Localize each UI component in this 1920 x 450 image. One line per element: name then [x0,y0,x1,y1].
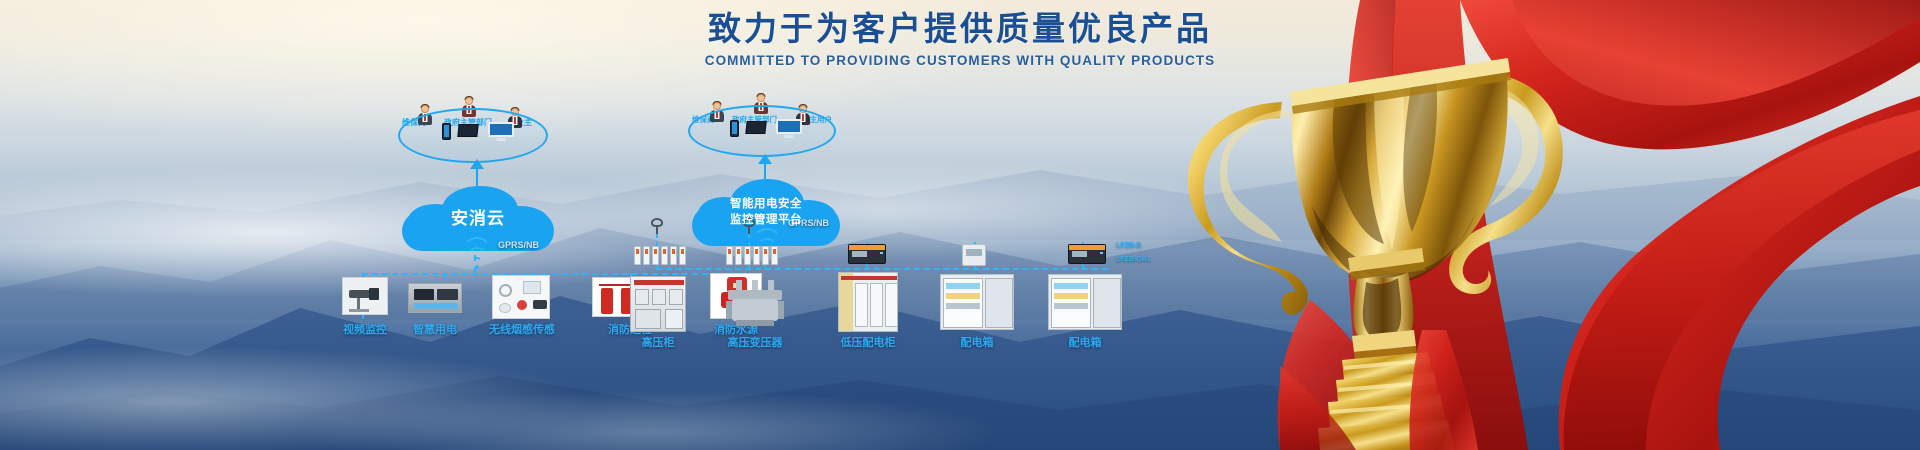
meter-icon-0 [848,244,886,264]
headline-chinese: 致力于为客户提供质量优良产品 [0,8,1920,49]
right-device-label-4: 配电箱 [1050,334,1120,350]
breaker-row-1 [726,246,778,265]
banner-stage: 致力于为客户提供质量优良产品 COMMITTED TO PROVIDING CU… [0,0,1920,450]
headline-english: COMMITTED TO PROVIDING CUSTOMERS WITH QU… [0,53,1920,68]
right-system-diagram: 维保商 政府主管部门 业主用户 智能用电安全 监控管理平台 [630,92,1150,412]
ct-sensor-icon-0 [648,218,666,234]
left-device-thumb-1[interactable] [408,283,462,313]
right-device-label-1: 高压变压器 [714,334,796,350]
right-device-label-3: 配电箱 [942,334,1012,350]
left-device-label-2: 无线烟感传感 [482,321,562,337]
terminal-icon-desktop-monitor-right [776,119,802,138]
right-device-thumb-1[interactable] [722,280,788,330]
terminal-icon-mobile-phone [442,123,451,140]
terminal-icon-laptop [456,124,481,141]
left-device-thumb-2[interactable] [492,275,550,319]
right-device-thumb-3[interactable] [940,274,1014,330]
meter-icon-2 [1068,244,1106,264]
right-device-label-2: 低压配电柜 [828,334,908,350]
right-cloud-platform[interactable]: 智能用电安全 监控管理平台 [692,180,840,246]
right-device-thumb-2[interactable] [838,272,898,332]
breaker-row-0 [634,246,686,265]
left-device-label-0: 视频监控 [334,321,396,337]
right-device-thumb-0[interactable] [630,276,686,332]
left-uplink-arrow [470,159,484,169]
model-tag-0: LFZB-B [1116,242,1141,249]
headline-block: 致力于为客户提供质量优良产品 COMMITTED TO PROVIDING CU… [0,8,1920,68]
left-device-label-1: 智慧用电 [402,321,468,337]
right-uplink-arrow [758,154,772,164]
right-cloud-label-line2: 监控管理平台 [730,213,802,229]
meter-icon-1 [962,244,986,266]
left-cloud-bus-line [474,255,476,273]
terminal-icon-mobile-phone-right [730,120,739,137]
right-bus-line [656,268,1108,270]
model-tag-1: LFZB-GA1 [1116,256,1151,263]
left-cloud-label: 安消云 [451,208,505,231]
terminal-icon-laptop-right [744,121,769,138]
right-device-thumb-4[interactable] [1048,274,1122,330]
right-cloud-label-line1: 智能用电安全 [730,197,802,213]
left-device-thumb-0[interactable] [342,277,388,315]
right-device-label-0: 高压柜 [626,334,690,350]
terminal-icon-desktop-monitor [488,122,514,141]
left-cloud-platform[interactable]: 安消云 [402,187,554,251]
